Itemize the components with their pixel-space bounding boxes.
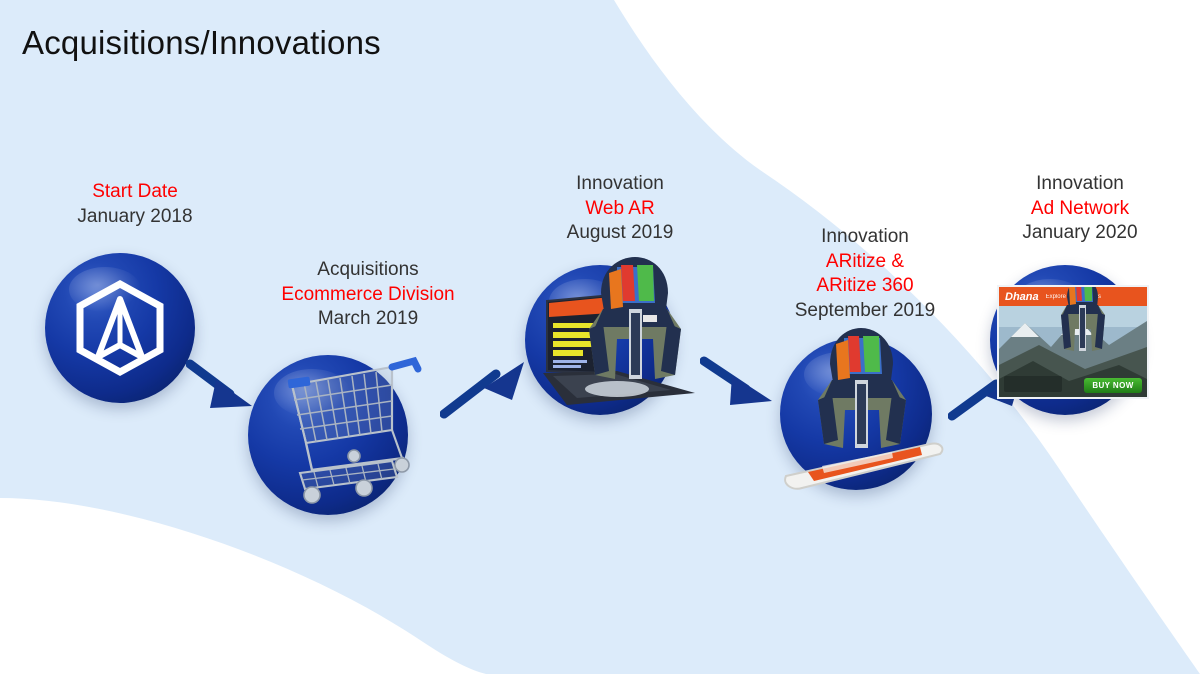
milestone-sphere-3[interactable]: [525, 265, 675, 415]
ad-footer-logo: [1004, 376, 1062, 392]
ad-brand: Dhana: [1005, 291, 1039, 303]
milestone-1-category: Start Date: [10, 180, 260, 205]
snowboard-jacket-icon: [762, 316, 962, 516]
milestone-label-4: Innovation ARitize & ARitize 360 Septemb…: [740, 225, 990, 324]
milestone-2-name: Ecommerce Division: [228, 283, 508, 308]
milestone-label-3: Innovation Web AR August 2019: [495, 172, 745, 246]
milestone-sphere-4[interactable]: [780, 338, 932, 490]
milestone-4-name-line2: ARitize 360: [740, 274, 990, 299]
milestone-label-2: Acquisitions Ecommerce Division March 20…: [228, 258, 508, 332]
nextech-hexagon-logo-icon: [72, 279, 168, 377]
milestone-5-date: January 2020: [955, 221, 1200, 246]
milestone-2-category: Acquisitions: [228, 258, 508, 283]
milestone-4-category: Innovation: [740, 225, 990, 250]
page-title: Acquisitions/Innovations: [22, 24, 381, 62]
milestone-sphere-1[interactable]: [45, 253, 195, 403]
milestone-sphere-2[interactable]: [248, 355, 408, 515]
ad-jacket-model: [1045, 285, 1123, 385]
milestone-label-1: Start Date January 2018: [10, 180, 260, 229]
laptop-web-ar-icon: [505, 243, 725, 443]
ad-buy-now-button[interactable]: BUY NOW: [1084, 378, 1142, 393]
slide-canvas: Acquisitions/Innovations Start Date Janu…: [0, 0, 1200, 674]
milestone-3-name: Web AR: [495, 197, 745, 222]
milestone-5-name: Ad Network: [955, 197, 1200, 222]
milestone-1-date: January 2018: [10, 205, 260, 230]
milestone-label-5: Innovation Ad Network January 2020: [955, 172, 1200, 246]
shopping-cart-icon: [242, 325, 432, 515]
milestone-4-name-line1: ARitize &: [740, 250, 990, 275]
milestone-5-category: Innovation: [955, 172, 1200, 197]
milestone-sphere-5[interactable]: Dhana Explore the outdoors BUY NOW: [990, 265, 1140, 415]
milestone-3-category: Innovation: [495, 172, 745, 197]
ad-banner[interactable]: Dhana Explore the outdoors BUY NOW: [997, 285, 1149, 399]
